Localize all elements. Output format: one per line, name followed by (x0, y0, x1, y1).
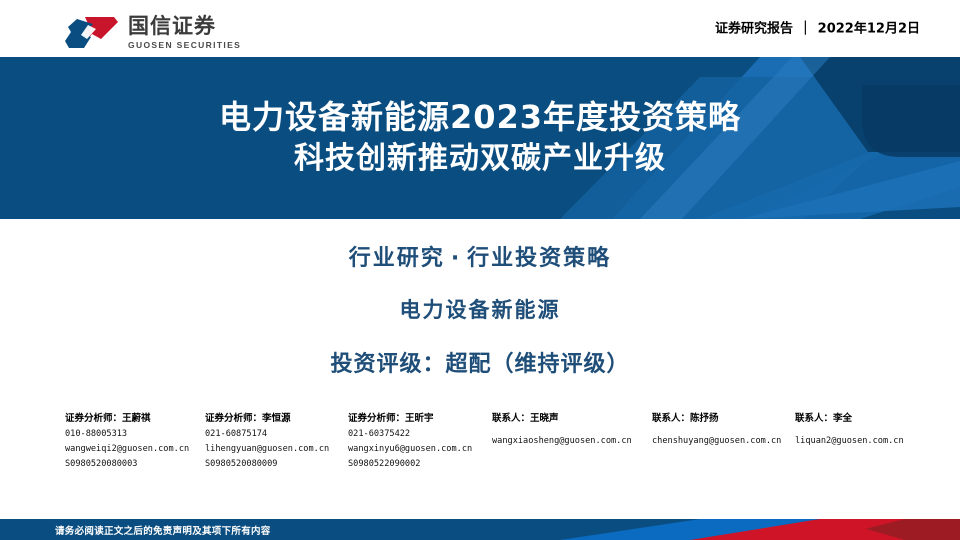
report-type-label: 证券研究报告 (715, 18, 793, 37)
contact-email[interactable]: liquan2@guosen.com.cn (795, 434, 904, 449)
analyst-name: 证券分析师：李恒源 (205, 412, 329, 427)
investment-rating: 投资评级：超配（维持评级） (330, 346, 629, 378)
contact-name: 联系人：王晓声 (492, 412, 632, 427)
page-footer: 请务必阅读正文之后的免责声明及其项下所有内容 (0, 519, 960, 540)
guosen-swoosh-logo-icon (62, 13, 120, 53)
banner-text-group: 电力设备新能源2023年度投资策略 科技创新推动双碳产业升级 (0, 57, 960, 219)
industry-name: 电力设备新能源 (400, 294, 561, 324)
contact-column-2: 联系人：陈抒扬 chenshuyang@guosen.com.cn (652, 412, 781, 449)
footer-disclaimer: 请务必阅读正文之后的免责声明及其项下所有内容 (55, 523, 271, 537)
report-meta-block: 行业研究·行业投资策略 电力设备新能源 投资评级：超配（维持评级） (0, 240, 960, 378)
research-category-left: 行业研究 (349, 246, 445, 271)
header-separator: | (803, 19, 808, 35)
logo-wordmark: 国信证券 GUOSEN SECURITIES (128, 16, 241, 50)
analyst-email[interactable]: wangweiqi2@guosen.com.cn (65, 442, 189, 457)
logo-english-name: GUOSEN SECURITIES (128, 41, 241, 50)
contact-column-1: 联系人：王晓声 wangxiaosheng@guosen.com.cn (492, 412, 632, 449)
report-title: 电力设备新能源2023年度投资策略 (219, 99, 741, 137)
analyst-name: 证券分析师：王昕宇 (348, 412, 472, 427)
analyst-license: S0980520080009 (205, 457, 329, 472)
analyst-name: 证券分析师：王蔚祺 (65, 412, 189, 427)
contact-name: 联系人：李全 (795, 412, 904, 427)
analyst-column-2: 证券分析师：李恒源 021-60875174 lihengyuan@guosen… (205, 412, 329, 472)
analyst-license: S0980520080003 (65, 457, 189, 472)
analyst-email[interactable]: lihengyuan@guosen.com.cn (205, 442, 329, 457)
analyst-phone: 021-60875174 (205, 427, 329, 442)
title-banner: 电力设备新能源2023年度投资策略 科技创新推动双碳产业升级 (0, 57, 960, 219)
page-header: 国信证券 GUOSEN SECURITIES 证券研究报告 | 2022年12月… (0, 0, 960, 57)
report-date: 2022年12月2日 (818, 18, 920, 37)
analyst-phone: 010-88005313 (65, 427, 189, 442)
analyst-column-3: 证券分析师：王昕宇 021-60375422 wangxinyu6@guosen… (348, 412, 472, 472)
research-category-line: 行业研究·行业投资策略 (349, 240, 611, 272)
contact-name: 联系人：陈抒扬 (652, 412, 781, 427)
report-subtitle: 科技创新推动双碳产业升级 (294, 141, 666, 176)
contact-email[interactable]: chenshuyang@guosen.com.cn (652, 434, 781, 449)
contact-email[interactable]: wangxiaosheng@guosen.com.cn (492, 434, 632, 449)
category-dot-separator: · (451, 246, 461, 271)
contacts-block: 证券分析师：王蔚祺 010-88005313 wangweiqi2@guosen… (0, 412, 960, 502)
analyst-license: S0980522090002 (348, 457, 472, 472)
analyst-email[interactable]: wangxinyu6@guosen.com.cn (348, 442, 472, 457)
analyst-phone: 021-60375422 (348, 427, 472, 442)
contact-column-3: 联系人：李全 liquan2@guosen.com.cn (795, 412, 904, 449)
report-cover-page: 国信证券 GUOSEN SECURITIES 证券研究报告 | 2022年12月… (0, 0, 960, 540)
brand-logo[interactable]: 国信证券 GUOSEN SECURITIES (62, 13, 241, 53)
research-category-right: 行业投资策略 (467, 246, 611, 271)
logo-chinese-name: 国信证券 (128, 16, 241, 37)
header-meta: 证券研究报告 | 2022年12月2日 (715, 18, 920, 37)
analyst-column-1: 证券分析师：王蔚祺 010-88005313 wangweiqi2@guosen… (65, 412, 189, 472)
